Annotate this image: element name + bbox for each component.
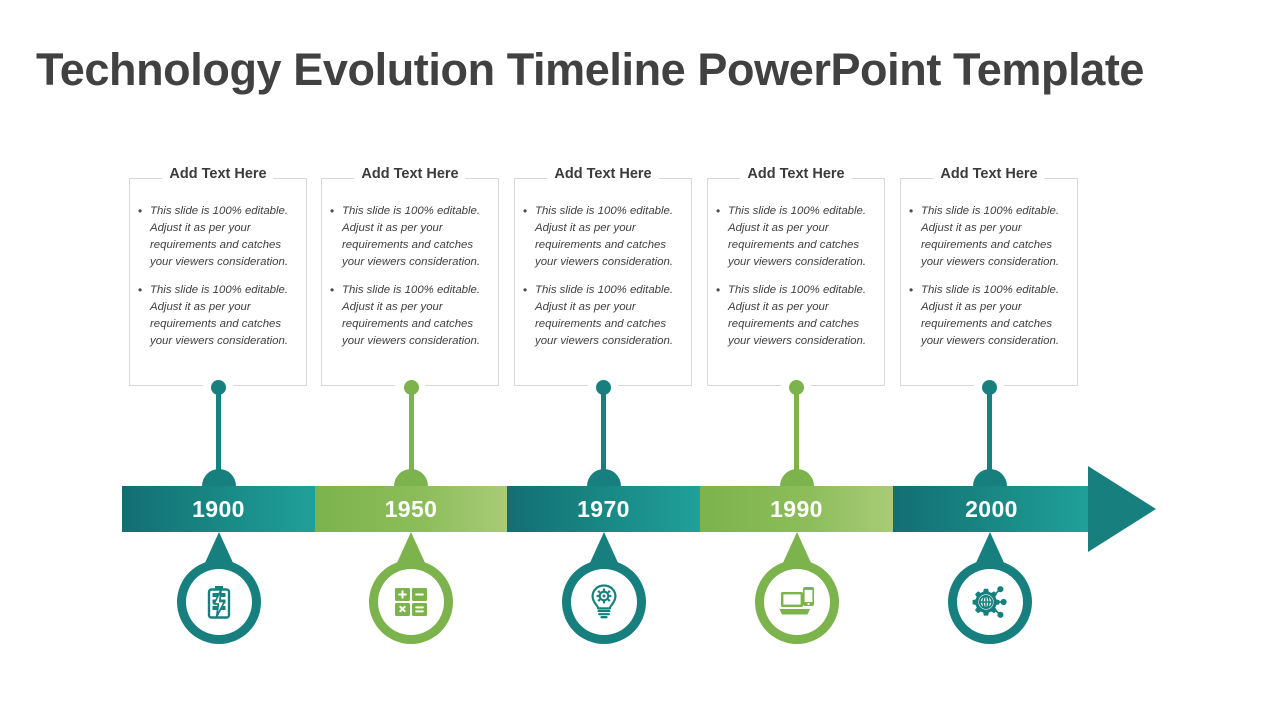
lightbulb-gear-icon [571,569,637,635]
list-item[interactable]: •This slide is 100% editable. Adjust it … [523,203,683,271]
bullet-text: This slide is 100% editable. Adjust it a… [921,282,1069,350]
bullet-text: This slide is 100% editable. Adjust it a… [150,203,298,271]
card-title[interactable]: Add Text Here [354,166,465,182]
text-card-2[interactable]: Add Text Here•This slide is 100% editabl… [321,178,499,386]
connector-dot-icon [789,380,804,395]
connector-dot-icon [211,380,226,395]
bullet-text: This slide is 100% editable. Adjust it a… [535,282,683,350]
card-body: •This slide is 100% editable. Adjust it … [708,179,884,350]
calculator-icon [378,569,444,635]
connector-stem-1 [199,380,239,486]
bullet-icon: • [330,282,342,299]
timeline-segment-1990[interactable]: 1990 [700,486,893,532]
card-title[interactable]: Add Text Here [740,166,851,182]
droplet-ring [755,560,839,644]
timeline-segment-1970[interactable]: 1970 [507,486,700,532]
laptop-smartphone-icon [764,569,830,635]
connector-dot-icon [596,380,611,395]
year-label: 1970 [577,496,630,523]
text-card-3[interactable]: Add Text Here•This slide is 100% editabl… [514,178,692,386]
list-item[interactable]: •This slide is 100% editable. Adjust it … [523,282,683,350]
bullet-icon: • [909,282,921,299]
connector-stem-3 [584,380,624,486]
droplet-ring [369,560,453,644]
bullet-text: This slide is 100% editable. Adjust it a… [728,282,876,350]
card-body: •This slide is 100% editable. Adjust it … [322,179,498,350]
bullet-text: This slide is 100% editable. Adjust it a… [342,282,490,350]
connector-base [780,469,814,486]
bullet-text: This slide is 100% editable. Adjust it a… [728,203,876,271]
year-label: 2000 [965,496,1018,523]
bullet-icon: • [523,282,535,299]
connector-dot-icon [404,380,419,395]
text-card-5[interactable]: Add Text Here•This slide is 100% editabl… [900,178,1078,386]
bullet-icon: • [138,203,150,220]
timeline-bar: 19001950197019902000 [122,486,1090,532]
text-card-4[interactable]: Add Text Here•This slide is 100% editabl… [707,178,885,386]
card-title[interactable]: Add Text Here [162,166,273,182]
icon-marker-3[interactable] [562,532,646,644]
icon-marker-5[interactable] [948,532,1032,644]
card-body: •This slide is 100% editable. Adjust it … [130,179,306,350]
card-body: •This slide is 100% editable. Adjust it … [515,179,691,350]
timeline-arrowhead-icon [1088,466,1156,552]
text-card-1[interactable]: Add Text Here•This slide is 100% editabl… [129,178,307,386]
connector-dot-icon [982,380,997,395]
bullet-icon: • [909,203,921,220]
bullet-icon: • [716,282,728,299]
list-item[interactable]: •This slide is 100% editable. Adjust it … [716,203,876,271]
droplet-ring [948,560,1032,644]
droplet-ring [562,560,646,644]
icon-marker-1[interactable] [177,532,261,644]
bullet-icon: • [138,282,150,299]
list-item[interactable]: •This slide is 100% editable. Adjust it … [330,203,490,271]
icon-marker-2[interactable] [369,532,453,644]
year-label: 1950 [385,496,438,523]
list-item[interactable]: •This slide is 100% editable. Adjust it … [909,203,1069,271]
connector-stem-4 [777,380,817,486]
timeline-segment-1900[interactable]: 1900 [122,486,315,532]
bullet-text: This slide is 100% editable. Adjust it a… [150,282,298,350]
battery-lightning-icon [186,569,252,635]
list-item[interactable]: •This slide is 100% editable. Adjust it … [138,282,298,350]
connector-stem-5 [970,380,1010,486]
list-item[interactable]: •This slide is 100% editable. Adjust it … [716,282,876,350]
gear-globe-network-icon [957,569,1023,635]
bullet-icon: • [523,203,535,220]
list-item[interactable]: •This slide is 100% editable. Adjust it … [330,282,490,350]
card-body: •This slide is 100% editable. Adjust it … [901,179,1077,350]
timeline-segment-2000[interactable]: 2000 [893,486,1090,532]
list-item[interactable]: •This slide is 100% editable. Adjust it … [909,282,1069,350]
bullet-icon: • [330,203,342,220]
connector-base [973,469,1007,486]
timeline-segment-1950[interactable]: 1950 [315,486,507,532]
droplet-ring [177,560,261,644]
connector-base [394,469,428,486]
bullet-text: This slide is 100% editable. Adjust it a… [342,203,490,271]
bullet-text: This slide is 100% editable. Adjust it a… [535,203,683,271]
connector-base [202,469,236,486]
card-title[interactable]: Add Text Here [933,166,1044,182]
bullet-icon: • [716,203,728,220]
card-title[interactable]: Add Text Here [547,166,658,182]
year-label: 1900 [192,496,245,523]
list-item[interactable]: •This slide is 100% editable. Adjust it … [138,203,298,271]
connector-stem-2 [391,380,431,486]
slide-canvas: Technology Evolution Timeline PowerPoint… [0,0,1280,720]
icon-marker-4[interactable] [755,532,839,644]
bullet-text: This slide is 100% editable. Adjust it a… [921,203,1069,271]
connector-base [587,469,621,486]
year-label: 1990 [770,496,823,523]
